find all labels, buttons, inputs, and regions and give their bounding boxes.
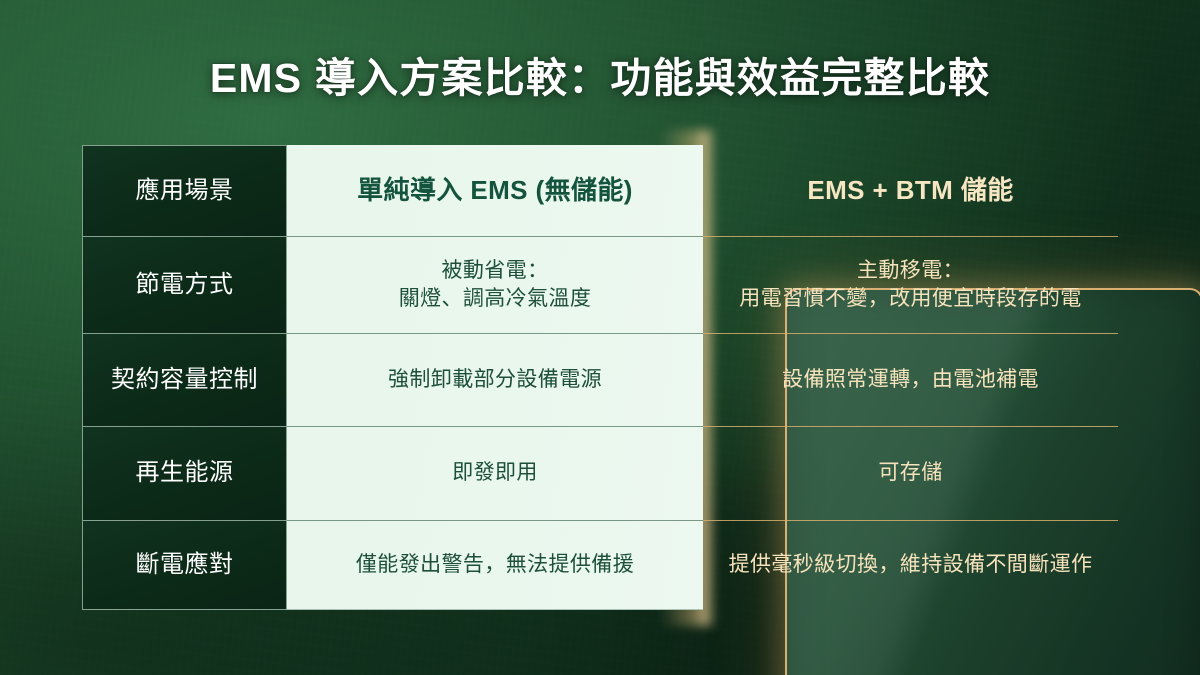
row-label-text: 契約容量控制: [101, 364, 268, 396]
row-label-text: 斷電應對: [126, 549, 244, 581]
cell-text-line: 可存儲: [878, 459, 942, 487]
row-ems-btm-cell: 主動移電：用電習慣不變，改用便宜時段存的電: [703, 236, 1118, 333]
row-ems-only-text: 即發即用: [442, 459, 548, 487]
row-label-cell: 斷電應對: [82, 520, 287, 610]
row-label-cell: 再生能源: [82, 426, 287, 520]
table-header-cell-ems-only: 單純導入 EMS (無儲能): [287, 145, 703, 236]
row-label-text: 再生能源: [126, 457, 244, 489]
cell-text-line: 主動移電：: [739, 257, 1081, 285]
row-ems-btm-text: 主動移電：用電習慣不變，改用便宜時段存的電: [729, 257, 1091, 314]
header-label-text: 應用場景: [126, 175, 244, 207]
comparison-table: 應用場景 單純導入 EMS (無儲能) EMS + BTM 儲能 節電方式 被動…: [82, 145, 1118, 610]
row-ems-only-text: 強制卸載部分設備電源: [378, 366, 612, 394]
row-ems-btm-text: 設備照常運轉，由電池補電: [772, 366, 1049, 394]
table-row: 斷電應對 僅能發出警告，無法提供備援 提供毫秒級切換，維持設備不間斷運作: [82, 520, 1118, 610]
table-row: 再生能源 即發即用 可存儲: [82, 426, 1118, 520]
cell-text-line: 被動省電：: [399, 257, 592, 285]
table-header-row: 應用場景 單純導入 EMS (無儲能) EMS + BTM 儲能: [82, 145, 1118, 236]
row-ems-btm-cell: 設備照常運轉，由電池補電: [703, 333, 1118, 426]
row-label-text: 節電方式: [126, 269, 244, 301]
row-ems-only-text: 被動省電：關燈、調高冷氣溫度: [389, 257, 602, 314]
cell-text-line: 即發即用: [452, 459, 538, 487]
cell-text-line: 關燈、調高冷氣溫度: [399, 285, 592, 313]
row-label-cell: 契約容量控制: [82, 333, 287, 426]
table-body: 應用場景 單純導入 EMS (無儲能) EMS + BTM 儲能 節電方式 被動…: [82, 145, 1118, 610]
row-ems-only-cell: 強制卸載部分設備電源: [287, 333, 703, 426]
row-label-cell: 節電方式: [82, 236, 287, 333]
cell-text-line: 設備照常運轉，由電池補電: [782, 366, 1039, 394]
table-header-cell-ems-btm: EMS + BTM 儲能: [703, 145, 1118, 236]
row-ems-btm-text: 提供毫秒級切換，維持設備不間斷運作: [719, 551, 1103, 579]
table-row: 契約容量控制 強制卸載部分設備電源 設備照常運轉，由電池補電: [82, 333, 1118, 426]
row-ems-btm-cell: 可存儲: [703, 426, 1118, 520]
row-ems-btm-cell: 提供毫秒級切換，維持設備不間斷運作: [703, 520, 1118, 610]
header-ems-btm-text: EMS + BTM 儲能: [797, 173, 1023, 208]
table-row: 節電方式 被動省電：關燈、調高冷氣溫度 主動移電：用電習慣不變，改用便宜時段存的…: [82, 236, 1118, 333]
row-ems-only-cell: 即發即用: [287, 426, 703, 520]
cell-text-line: 用電習慣不變，改用便宜時段存的電: [739, 285, 1081, 313]
row-ems-btm-text: 可存儲: [868, 459, 952, 487]
table-header-cell-label: 應用場景: [82, 145, 287, 236]
cell-text-line: 僅能發出警告，無法提供備援: [356, 551, 634, 579]
cell-text-line: 提供毫秒級切換，維持設備不間斷運作: [729, 551, 1093, 579]
row-ems-only-text: 僅能發出警告，無法提供備援: [346, 551, 644, 579]
cell-text-line: 強制卸載部分設備電源: [388, 366, 602, 394]
page-title: EMS 導入方案比較：功能與效益完整比較: [0, 44, 1200, 104]
slide-canvas: EMS 導入方案比較：功能與效益完整比較 應用場景 單純導入 EMS (無儲能)…: [0, 0, 1200, 675]
row-ems-only-cell: 僅能發出警告，無法提供備援: [287, 520, 703, 610]
header-ems-only-text: 單純導入 EMS (無儲能): [347, 173, 643, 208]
row-ems-only-cell: 被動省電：關燈、調高冷氣溫度: [287, 236, 703, 333]
